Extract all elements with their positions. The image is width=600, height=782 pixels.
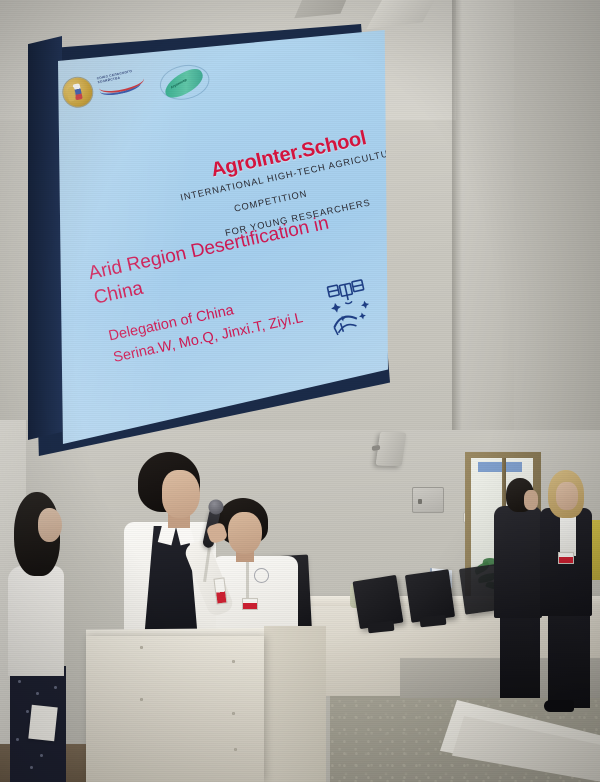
screen-side-panel [28, 36, 62, 440]
wall-utility-box [412, 487, 444, 513]
russian-federation-gold-emblem-icon [60, 75, 95, 109]
satellite-stars-emblem-icon [315, 272, 387, 345]
lanyard-badge [558, 552, 574, 564]
green-leaf-agro-logo-icon: Агроинтер [160, 65, 210, 103]
podium-side [264, 626, 326, 782]
slide-logo-row: СОЮЗ СЕЛЬСКОГО ХОЗЯЙСТВА Агроинтер [60, 51, 209, 124]
shirt-emblem-icon [254, 568, 269, 583]
slide-subtitle-line2: COMPETITION [233, 188, 308, 213]
wall-right-far [514, 0, 600, 470]
wall-speaker-icon [376, 432, 407, 467]
wall-right-column [456, 0, 514, 470]
projection-screen: СОЮЗ СЕЛЬСКОГО ХОЗЯЙСТВА Агроинтер AgroI… [28, 24, 390, 456]
inner-room-banner [478, 462, 522, 472]
desk-monitor [405, 569, 455, 623]
union-of-agricultural-text-logo-icon: СОЮЗ СЕЛЬСКОГО ХОЗЯЙСТВА [96, 63, 152, 99]
slide-main-title: Arid Region Desertification in China [86, 210, 341, 311]
lanyard-badge [242, 598, 258, 610]
held-paper [28, 705, 57, 742]
desk-monitor [353, 575, 404, 629]
presentation-photo-scene: СОЮЗ СЕЛЬСКОГО ХОЗЯЙСТВА Агроинтер AgroI… [0, 0, 600, 782]
wall-corner-shadow [452, 0, 462, 470]
podium-front [86, 636, 264, 782]
